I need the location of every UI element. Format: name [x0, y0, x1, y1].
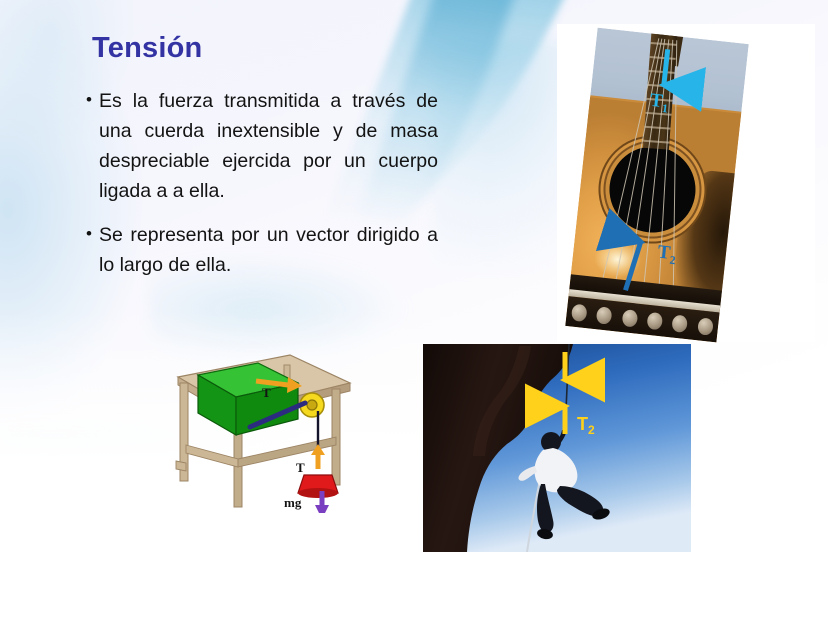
climber-photo: T1 T2	[423, 344, 691, 552]
bullet-list: • Es la fuerza transmitida a través de u…	[86, 86, 438, 294]
table-label-t-hanging: T	[296, 460, 305, 475]
slide-canvas: Tensión • Es la fuerza transmitida a tra…	[0, 0, 828, 621]
bullet-marker-icon: •	[86, 85, 99, 115]
guitar-tension-arrows	[565, 28, 749, 343]
table-pulley-figure: T T mg	[172, 341, 356, 513]
table-label-mg: mg	[284, 495, 302, 510]
table-label-t-block: T	[262, 385, 271, 400]
list-item: • Es la fuerza transmitida a través de u…	[86, 86, 438, 206]
climber-figure: T1 T2	[423, 344, 691, 552]
bullet-marker-icon: •	[86, 219, 99, 249]
page-title: Tensión	[92, 33, 202, 65]
bullet-text: Se representa por un vector dirigido a l…	[99, 220, 438, 280]
table-pulley-diagram: T T mg	[172, 341, 356, 513]
guitar-photo: T1 T2	[565, 28, 749, 343]
guitar-label-t2: T2	[656, 242, 677, 269]
guitar-label-t1: T1	[649, 90, 670, 117]
list-item: • Se representa por un vector dirigido a…	[86, 220, 438, 280]
guitar-figure: T1 T2	[557, 24, 815, 342]
bullet-text: Es la fuerza transmitida a través de una…	[99, 86, 438, 206]
